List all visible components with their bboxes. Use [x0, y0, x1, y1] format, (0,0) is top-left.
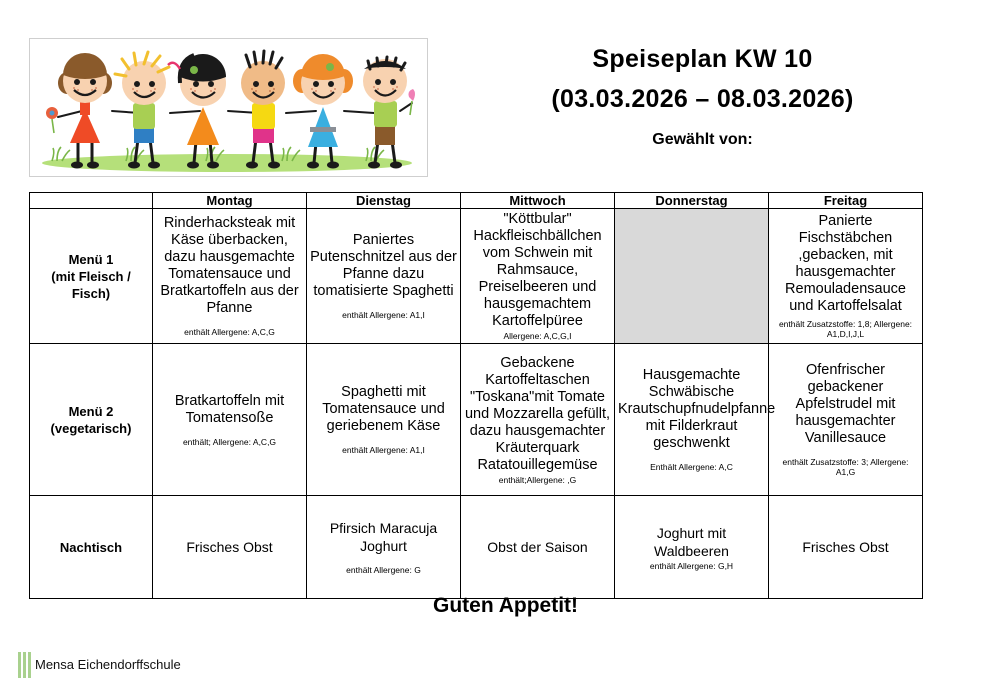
dish-text: Paniertes Putenschnitzel aus der Pfanne … [310, 232, 457, 300]
row-label-menu1: Menü 1 (mit Fleisch / Fisch) [30, 209, 153, 344]
header-day-dienstag: Dienstag [307, 193, 461, 209]
dish-text: Frisches Obst [772, 538, 919, 556]
dish-text: Pfirsich Maracuja Joghurt [310, 519, 457, 555]
allergen-text: enthält; Allergene: A,C,G [156, 437, 303, 447]
table-header-row: Montag Dienstag Mittwoch Donnerstag Frei… [30, 193, 923, 209]
allergen-text: enthält Zusatzstoffe: 3; Allergene: A1,G [772, 457, 919, 477]
row-label-line1: Nachtisch [33, 539, 149, 556]
row-label-line3: Fisch) [33, 285, 149, 302]
row-label-nachtisch: Nachtisch [30, 496, 153, 599]
menu-table: Montag Dienstag Mittwoch Donnerstag Frei… [29, 192, 923, 599]
row-label-line1: Menü 2 [33, 403, 149, 420]
cell-menu1-mittwoch: "Köttbular" Hackfleischbällchen vom Schw… [461, 209, 615, 344]
allergen-text: enthält Allergene: A1,I [310, 445, 457, 455]
table-row-nachtisch: Nachtisch Frisches Obst Pfirsich Maracuj… [30, 496, 923, 599]
allergen-text: Enthält Allergene: A,C [618, 462, 765, 472]
mensa-name-label: Mensa Eichendorffschule [35, 657, 181, 673]
cell-nachtisch-dienstag: Pfirsich Maracuja Joghurt enthält Allerg… [307, 496, 461, 599]
table-row-menu2: Menü 2 (vegetarisch) Bratkartoffeln mit … [30, 344, 923, 496]
table-row-menu1: Menü 1 (mit Fleisch / Fisch) Rinderhacks… [30, 209, 923, 344]
dish-text: Frisches Obst [156, 538, 303, 556]
guten-appetit-text: Guten Appetit! [0, 594, 995, 618]
allergen-text: enthält;Allergene: ,G [464, 475, 611, 485]
cell-menu1-montag: Rinderhacksteak mit Käse überbacken, daz… [153, 209, 307, 344]
dish-text: Spaghetti mit Tomatensauce und geriebene… [310, 384, 457, 435]
allergen-text: enthält Allergene: A1,I [310, 310, 457, 320]
children-clipart-image [29, 38, 428, 177]
allergen-text: enthält Allergene: A,C,G [156, 327, 303, 337]
cell-menu2-montag: Bratkartoffeln mit Tomatensoße enthält; … [153, 344, 307, 496]
allergen-text: enthält Allergene: G,H [618, 561, 765, 571]
header-day-montag: Montag [153, 193, 307, 209]
header-corner [30, 193, 153, 209]
row-label-line2: (mit Fleisch / [33, 268, 149, 285]
dish-text: Ofenfrischer gebackener Apfelstrudel mit… [772, 362, 919, 447]
cell-menu1-freitag: Panierte Fischstäbchen ,gebacken, mit ha… [769, 209, 923, 344]
header-day-freitag: Freitag [769, 193, 923, 209]
cell-menu1-donnerstag-empty [615, 209, 769, 344]
dish-text: "Köttbular" Hackfleischbällchen vom Schw… [464, 211, 611, 330]
date-range: (03.03.2026 – 08.03.2026) [430, 84, 975, 114]
allergen-text: Allergene: A,C,G,I [464, 331, 611, 341]
dish-text: Bratkartoffeln mit Tomatensoße [156, 393, 303, 427]
cell-menu1-dienstag: Paniertes Putenschnitzel aus der Pfanne … [307, 209, 461, 344]
dish-text: Gebackene Kartoffeltaschen "Toskana"mit … [464, 355, 611, 474]
page-title: Speiseplan KW 10 [430, 44, 975, 74]
footer-block: Mensa Eichendorffschule [18, 652, 181, 678]
header-day-donnerstag: Donnerstag [615, 193, 769, 209]
dish-text: Hausgemachte Schwäbische Krautschupfnude… [618, 367, 765, 452]
page-header: Speiseplan KW 10 (03.03.2026 – 08.03.202… [0, 0, 995, 185]
chosen-by-label: Gewählt von: [430, 130, 975, 150]
cell-menu2-dienstag: Spaghetti mit Tomatensauce und geriebene… [307, 344, 461, 496]
cell-menu2-donnerstag: Hausgemachte Schwäbische Krautschupfnude… [615, 344, 769, 496]
row-label-line2: (vegetarisch) [33, 420, 149, 437]
cell-menu2-mittwoch: Gebackene Kartoffeltaschen "Toskana"mit … [461, 344, 615, 496]
cell-nachtisch-montag: Frisches Obst [153, 496, 307, 599]
header-day-mittwoch: Mittwoch [461, 193, 615, 209]
row-label-menu2: Menü 2 (vegetarisch) [30, 344, 153, 496]
cell-menu2-freitag: Ofenfrischer gebackener Apfelstrudel mit… [769, 344, 923, 496]
row-label-line1: Menü 1 [33, 251, 149, 268]
dish-text: Panierte Fischstäbchen ,gebacken, mit ha… [772, 213, 919, 315]
allergen-text: enthält Zusatzstoffe: 1,8; Allergene: A1… [772, 319, 919, 339]
cell-nachtisch-donnerstag: Joghurt mit Waldbeeren enthält Allergene… [615, 496, 769, 599]
dish-text: Obst der Saison [464, 538, 611, 556]
cell-nachtisch-mittwoch: Obst der Saison [461, 496, 615, 599]
green-bars-icon [18, 652, 31, 678]
allergen-text: enthält Allergene: G [310, 565, 457, 575]
cell-nachtisch-freitag: Frisches Obst [769, 496, 923, 599]
title-block: Speiseplan KW 10 (03.03.2026 – 08.03.202… [430, 44, 975, 150]
dish-text: Rinderhacksteak mit Käse überbacken, daz… [156, 215, 303, 317]
dish-text: Joghurt mit Waldbeeren [618, 524, 765, 560]
